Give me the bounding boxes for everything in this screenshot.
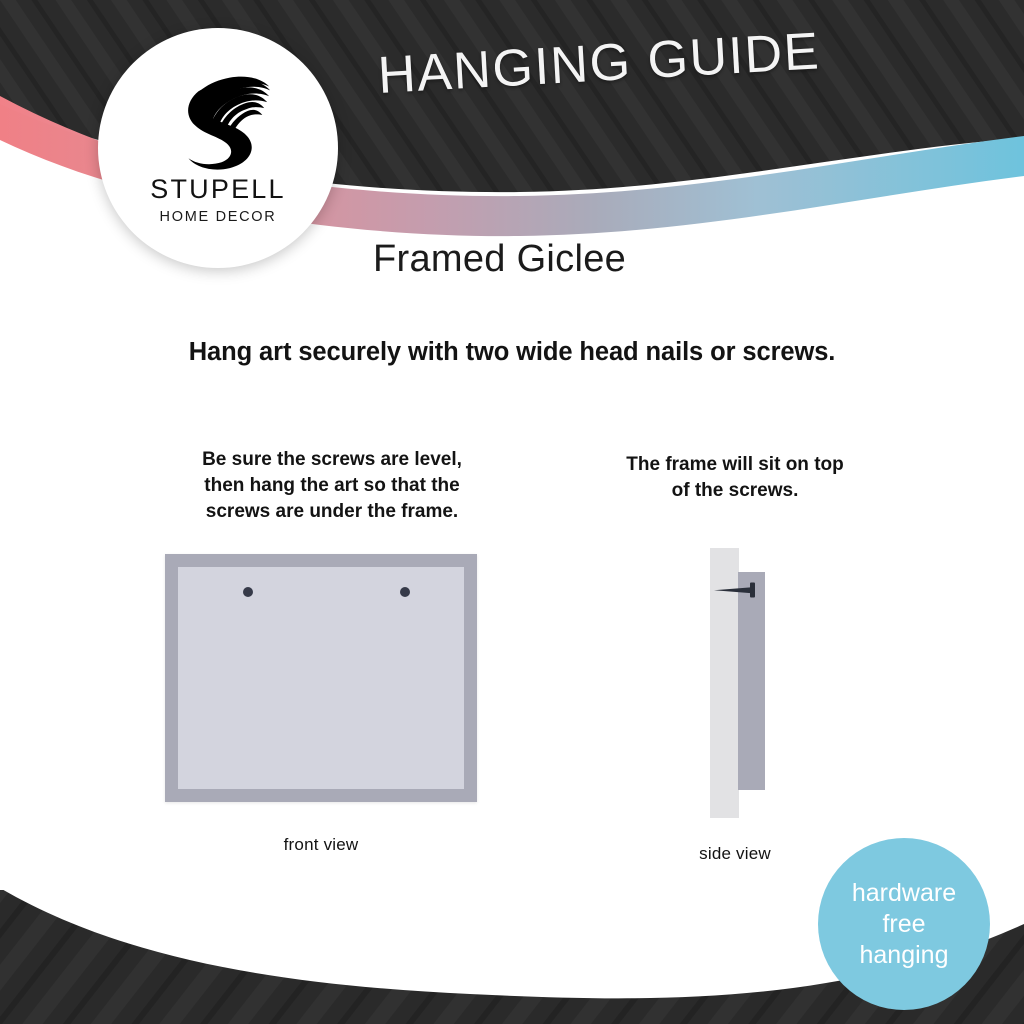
main-instruction: Hang art securely with two wide head nai…	[0, 338, 1024, 367]
front-view-caption: Be sure the screws are level, then hang …	[147, 447, 517, 525]
front-view-frame-diagram	[165, 554, 477, 802]
front-view-label: front view	[165, 835, 477, 855]
side-view-caption: The frame will sit on top of the screws.	[580, 452, 890, 504]
screw-dot-left-icon	[243, 587, 253, 597]
side-view-caption-line-2: of the screws.	[580, 478, 890, 504]
product-name: Framed Giclee	[373, 238, 626, 281]
page-title: HANGING GUIDE	[376, 21, 821, 106]
nail-side-icon	[712, 578, 768, 602]
brand-tagline: HOME DECOR	[160, 210, 277, 225]
hanging-guide-page: STUPELL HOME DECOR HANGING GUIDE Framed …	[0, 0, 1024, 1024]
badge-line-3: hanging	[860, 940, 949, 971]
brand-logo-badge: STUPELL HOME DECOR	[98, 28, 338, 268]
brand-name: STUPELL	[150, 176, 285, 203]
badge-line-2: free	[882, 909, 925, 940]
front-view-artwork-area	[178, 567, 464, 789]
screw-dot-right-icon	[400, 587, 410, 597]
front-view-caption-line-2: then hang the art so that the	[147, 473, 517, 499]
badge-line-1: hardware	[852, 878, 956, 909]
hardware-free-hanging-badge: hardware free hanging	[818, 838, 990, 1010]
side-view-label: side view	[645, 844, 825, 864]
side-view-caption-line-1: The frame will sit on top	[580, 452, 890, 478]
front-view-caption-line-1: Be sure the screws are level,	[147, 447, 517, 473]
front-view-caption-line-3: screws are under the frame.	[147, 499, 517, 525]
stupell-swoosh-logo-icon	[159, 54, 277, 172]
side-view-frame-strip	[738, 572, 765, 790]
